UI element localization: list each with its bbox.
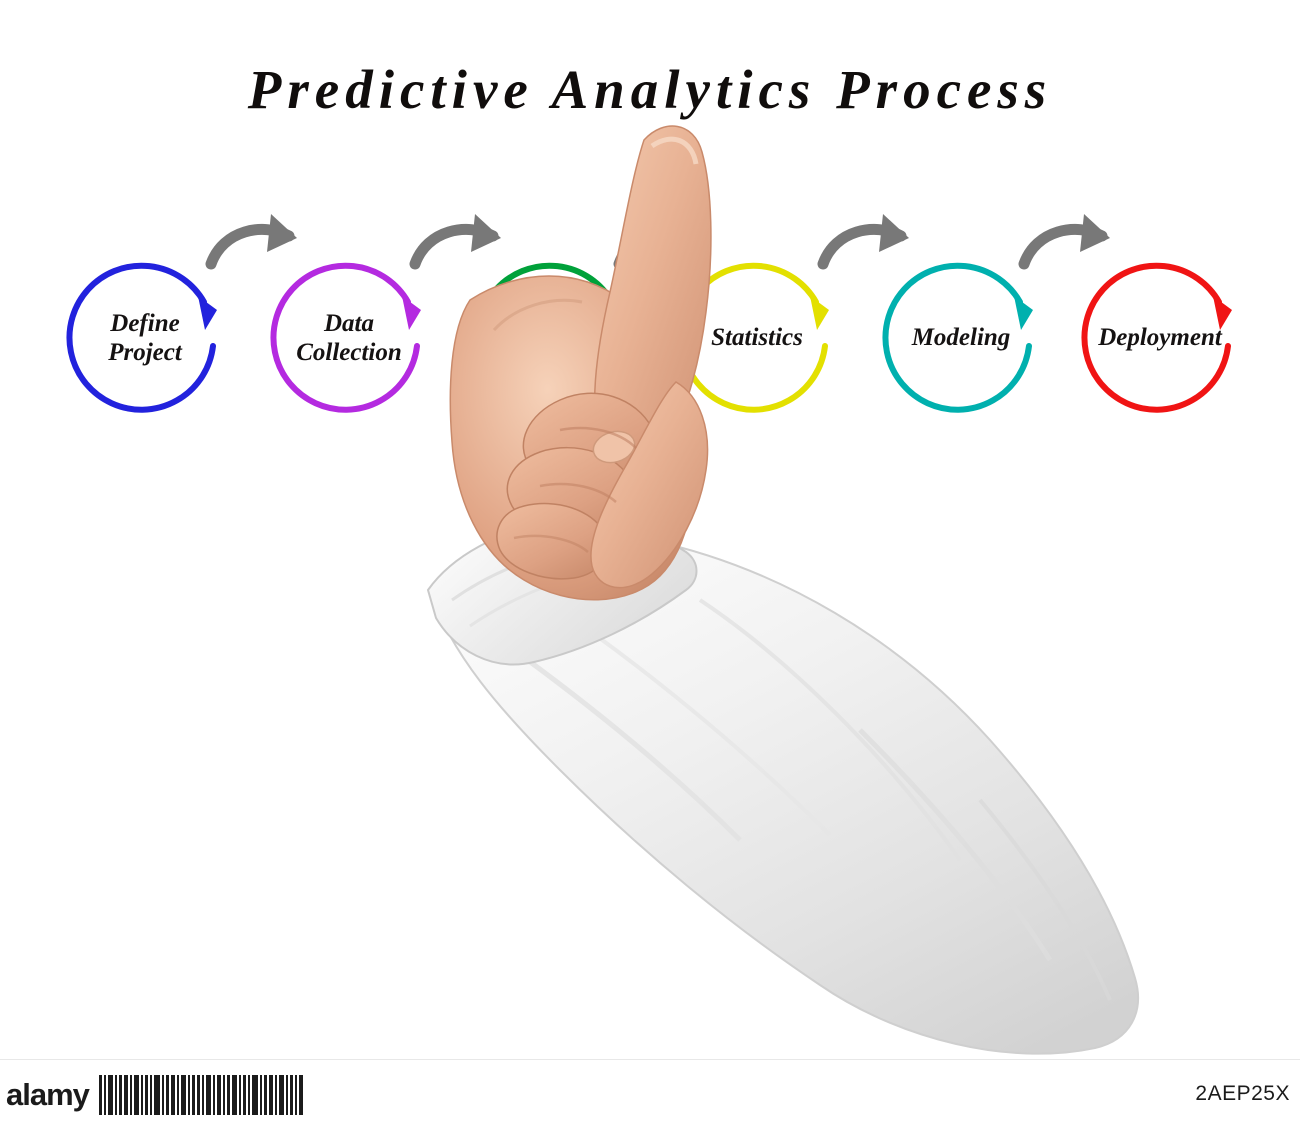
process-diagram: Define Project Data Collection Data Anal… bbox=[0, 0, 1300, 1060]
node-data-analysis[interactable]: Data Analysis bbox=[473, 258, 633, 418]
barcode-icon bbox=[99, 1075, 305, 1115]
node-define-project[interactable]: Define Project bbox=[65, 258, 225, 418]
screenshot-canvas: Predictive Analytics Process bbox=[0, 0, 1300, 1129]
node-modeling[interactable]: Modeling bbox=[881, 258, 1041, 418]
alamy-logo: alamy bbox=[6, 1077, 89, 1113]
node-data-collection[interactable]: Data Collection bbox=[269, 258, 429, 418]
pointing-hand-photo bbox=[0, 0, 1300, 1060]
image-id-label: 2AEP25X bbox=[1195, 1082, 1290, 1106]
node-statistics[interactable]: Statistics bbox=[677, 258, 837, 418]
node-deployment[interactable]: Deployment bbox=[1080, 258, 1240, 418]
footer-bar: alamy 2AEP25X bbox=[0, 1059, 1300, 1129]
